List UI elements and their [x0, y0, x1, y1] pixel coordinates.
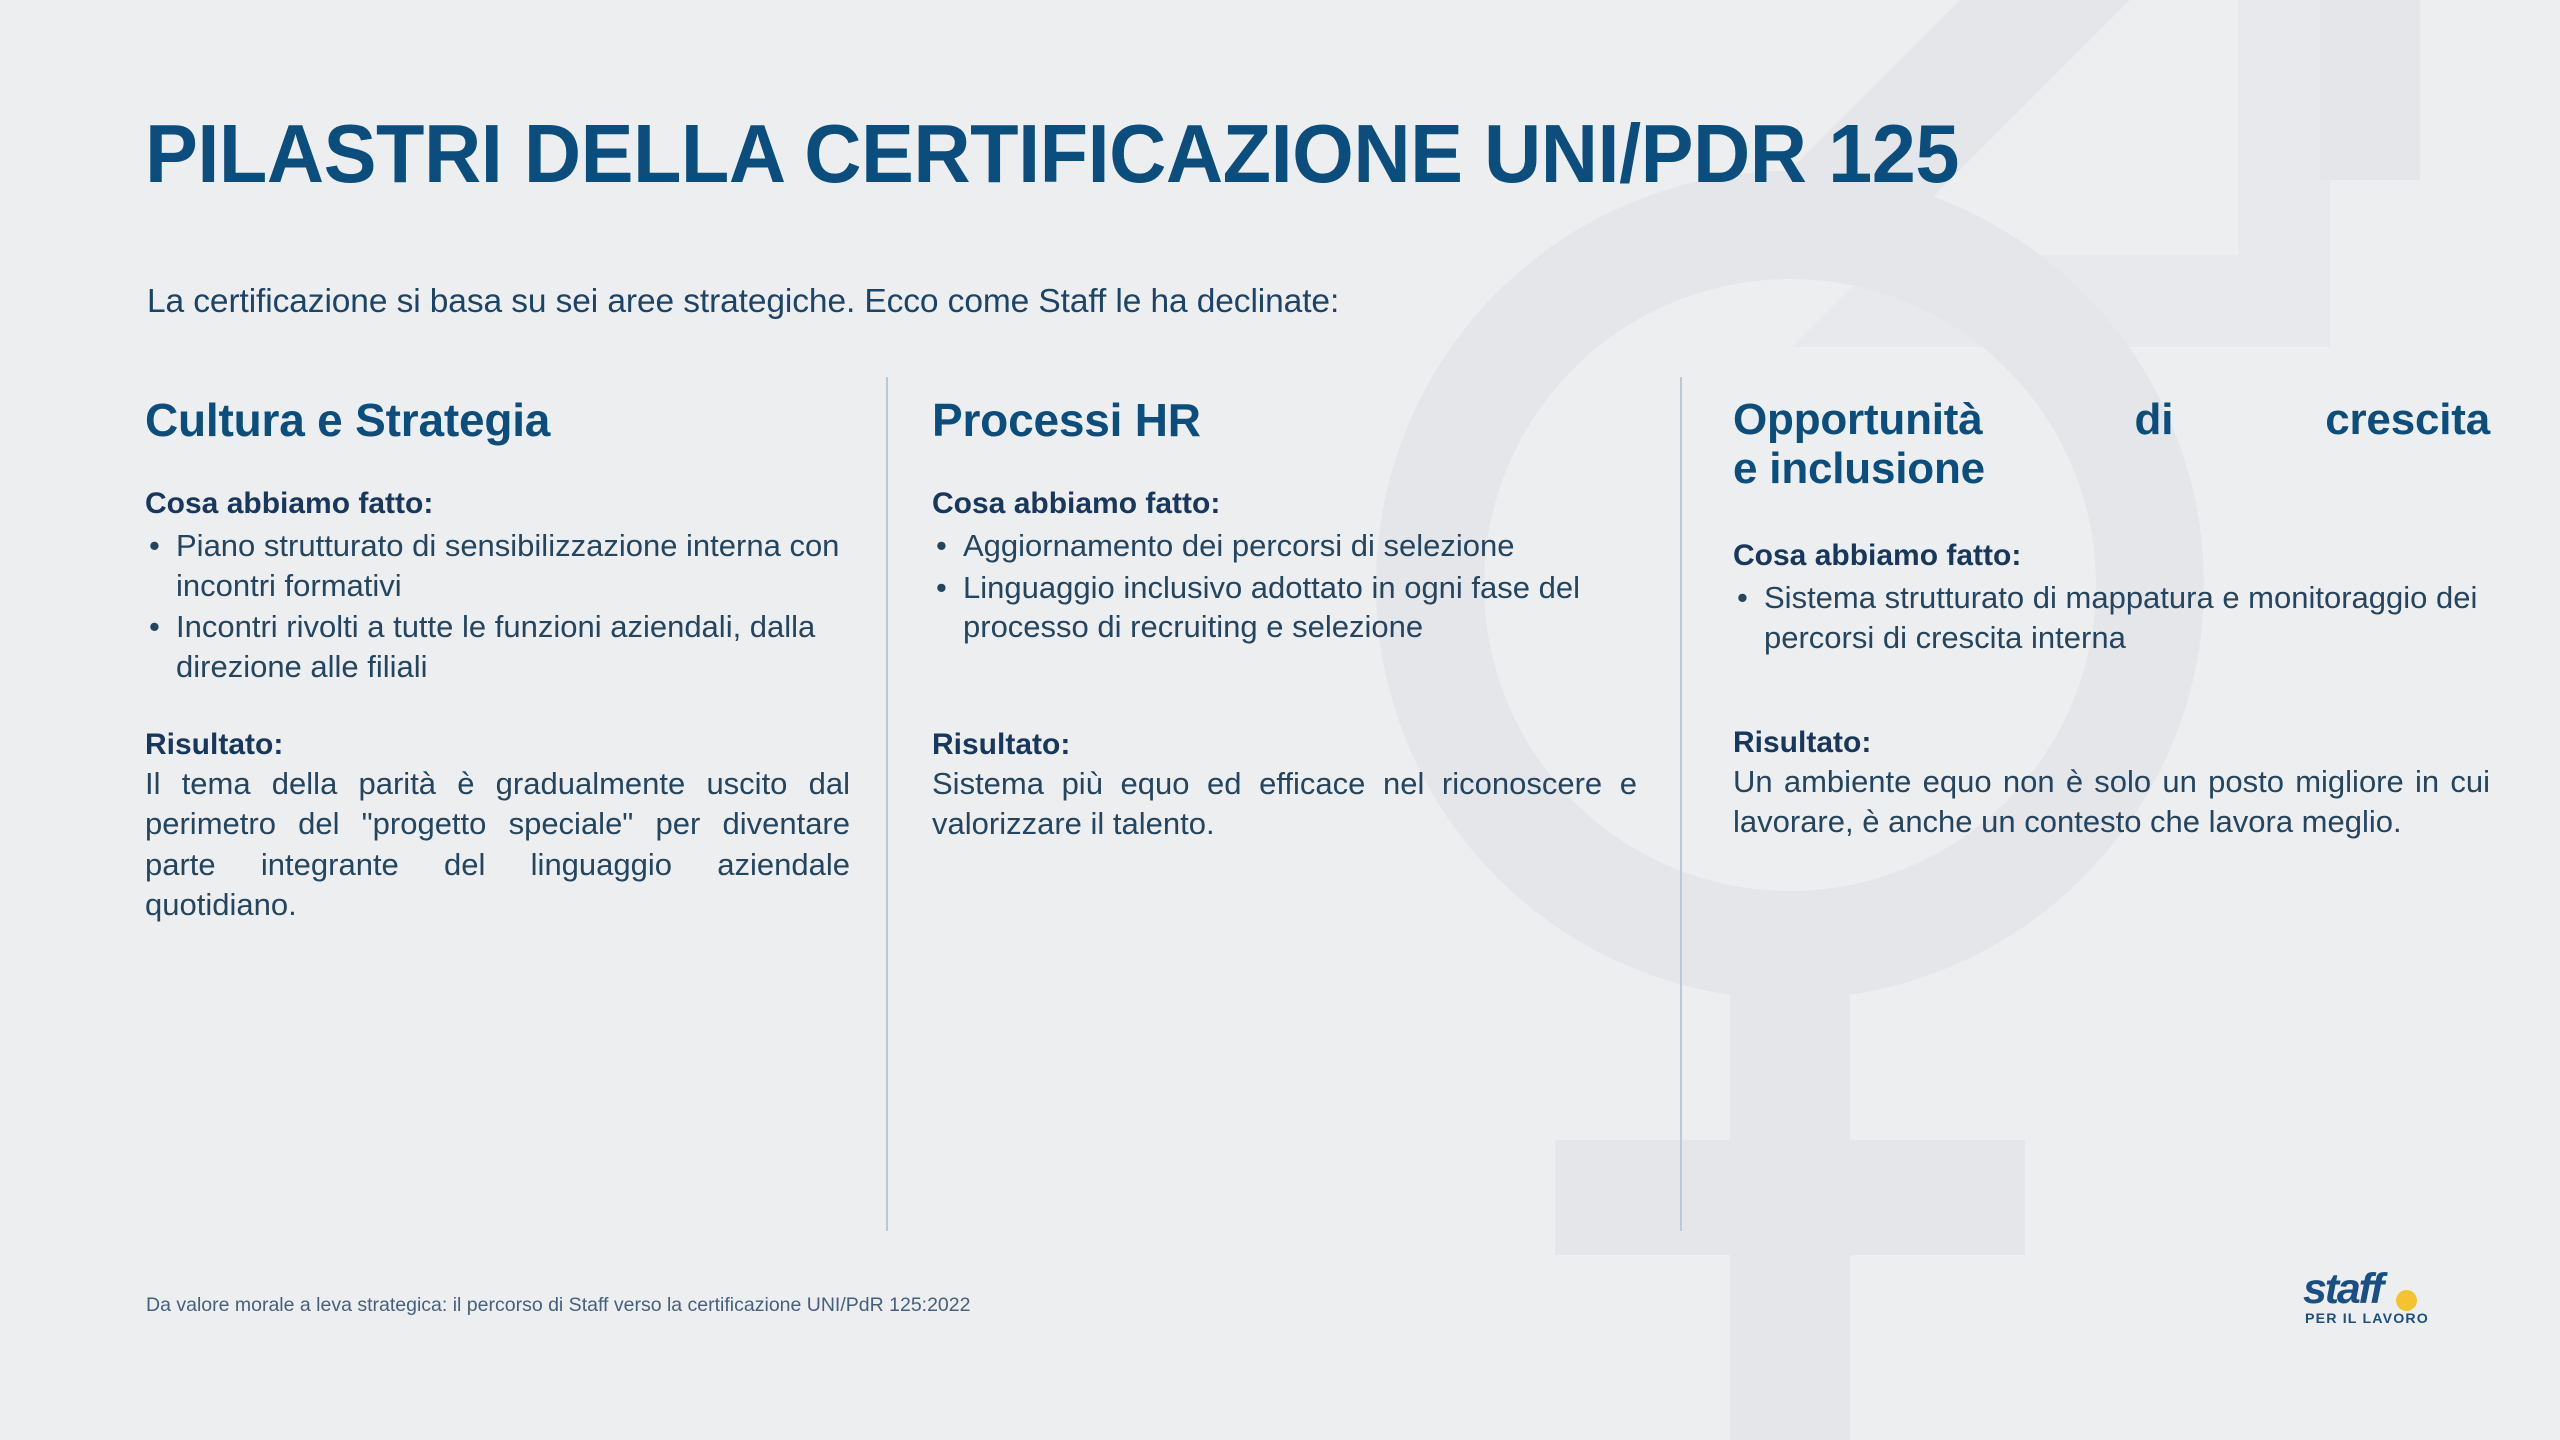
- bullet-icon: •: [936, 568, 947, 608]
- column-heading-line-2: e inclusione: [1733, 444, 2490, 493]
- list-item: • Aggiornamento dei percorsi di selezion…: [932, 526, 1637, 566]
- result-label: Risultato:: [932, 727, 1637, 763]
- result-text: Il tema della parità è gradualmente usci…: [145, 764, 850, 925]
- done-block: Cosa abbiamo fatto: • Aggiornamento dei …: [932, 486, 1637, 649]
- footer-source-note: Da valore morale a leva strategica: il p…: [146, 1294, 970, 1317]
- list-item-text: Aggiornamento dei percorsi di selezione: [963, 528, 1514, 563]
- result-block: Risultato: Il tema della parità è gradua…: [145, 727, 850, 925]
- column-heading-line-1: Opportunità di crescita: [1733, 395, 2490, 444]
- column-divider-1: [886, 377, 888, 1231]
- list-item-text: Sistema strutturato di mappatura e monit…: [1764, 580, 2477, 655]
- staff-logo-dot-icon: [2396, 1290, 2417, 1311]
- done-block: Cosa abbiamo fatto: • Piano strutturato …: [145, 486, 850, 689]
- list-item-text: Incontri rivolti a tutte le funzioni azi…: [176, 609, 815, 684]
- done-label: Cosa abbiamo fatto:: [932, 486, 1637, 522]
- result-text: Sistema più equo ed efficace nel riconos…: [932, 764, 1637, 845]
- page-title: PILASTRI DELLA CERTIFICAZIONE UNI/PDR 12…: [145, 112, 2361, 195]
- bullet-icon: •: [149, 526, 160, 566]
- bullet-icon: •: [936, 526, 947, 566]
- bullet-icon: •: [1737, 578, 1748, 618]
- result-label: Risultato:: [1733, 725, 2490, 761]
- pillar-column-processi-hr: Processi HR Cosa abbiamo fatto: • Aggior…: [932, 395, 1637, 447]
- done-bullet-list: • Piano strutturato di sensibilizzazione…: [145, 526, 850, 687]
- page-subtitle: La certificazione si basa su sei aree st…: [147, 283, 1339, 322]
- list-item: • Linguaggio inclusivo adottato in ogni …: [932, 568, 1637, 647]
- column-heading: Opportunità di crescita e inclusione: [1733, 395, 2490, 494]
- result-label: Risultato:: [145, 727, 850, 763]
- pillar-column-cultura-e-strategia: Cultura e Strategia Cosa abbiamo fatto: …: [145, 395, 850, 447]
- list-item: • Piano strutturato di sensibilizzazione…: [145, 526, 850, 605]
- list-item-text: Linguaggio inclusivo adottato in ogni fa…: [963, 570, 1580, 645]
- bullet-icon: •: [149, 607, 160, 647]
- result-block: Risultato: Sistema più equo ed efficace …: [932, 727, 1637, 845]
- done-block: Cosa abbiamo fatto: • Sistema strutturat…: [1733, 538, 2490, 659]
- staff-logo-tagline: PER IL LAVORO: [2305, 1312, 2429, 1326]
- pillar-column-opportunita-di-crescita-e-inclusione: Opportunità di crescita e inclusione Cos…: [1733, 395, 2490, 494]
- result-text: Un ambiente equo non è solo un posto mig…: [1733, 762, 2490, 843]
- gender-equality-symbol-icon: [0, 0, 2560, 1440]
- staff-logo-wordmark: staff: [2303, 1268, 2382, 1311]
- list-item: • Sistema strutturato di mappatura e mon…: [1733, 578, 2490, 657]
- done-label: Cosa abbiamo fatto:: [1733, 538, 2490, 574]
- column-divider-2: [1680, 377, 1682, 1231]
- column-heading: Cultura e Strategia: [145, 395, 850, 447]
- staff-logo: staff PER IL LAVORO: [2303, 1268, 2468, 1328]
- list-item-text: Piano strutturato di sensibilizzazione i…: [176, 528, 839, 603]
- column-heading: Processi HR: [932, 395, 1637, 447]
- list-item: • Incontri rivolti a tutte le funzioni a…: [145, 607, 850, 686]
- done-bullet-list: • Sistema strutturato di mappatura e mon…: [1733, 578, 2490, 657]
- slide-canvas: PILASTRI DELLA CERTIFICAZIONE UNI/PDR 12…: [0, 0, 2560, 1440]
- done-bullet-list: • Aggiornamento dei percorsi di selezion…: [932, 526, 1637, 647]
- result-block: Risultato: Un ambiente equo non è solo u…: [1733, 725, 2490, 843]
- done-label: Cosa abbiamo fatto:: [145, 486, 850, 522]
